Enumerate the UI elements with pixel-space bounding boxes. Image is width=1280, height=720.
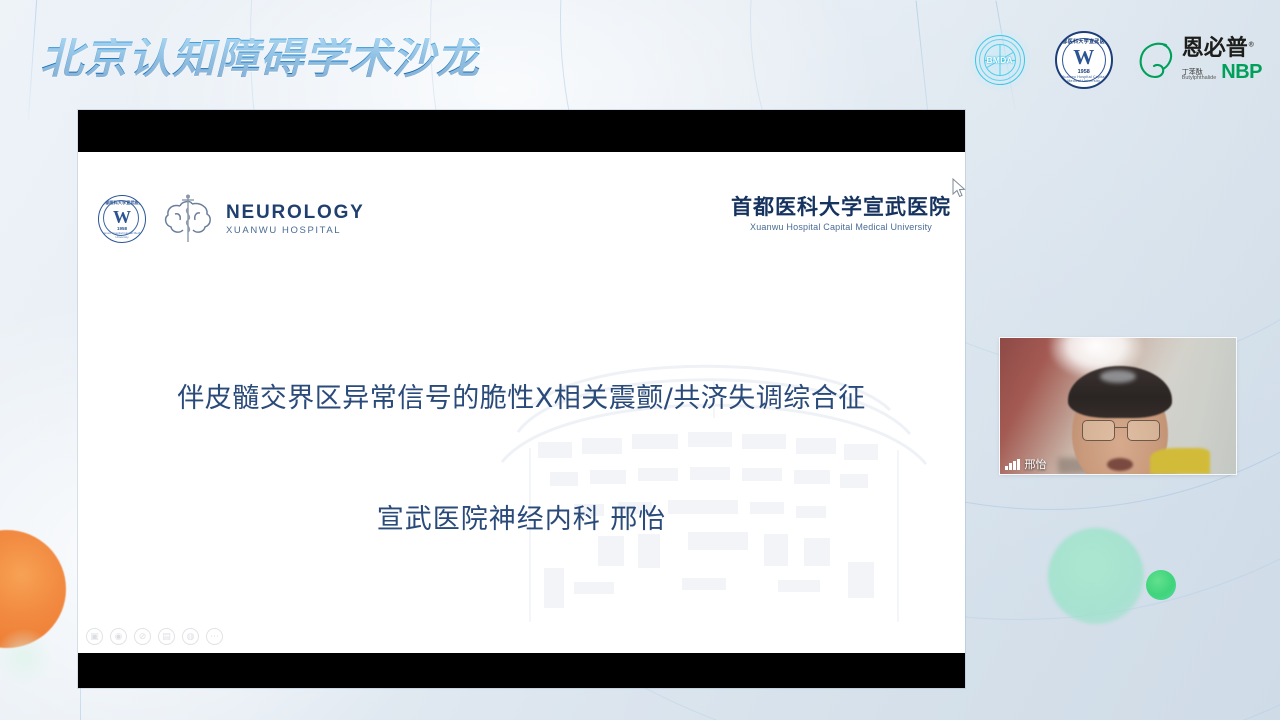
slide-content[interactable]: 首都医科大学宣武医院 W 1958 Xuanwu Hospital Capita… [78, 152, 965, 653]
decorative-green-circle-small [1146, 570, 1176, 600]
nbp-chinese-name: 恩必普® [1182, 38, 1262, 60]
decorative-orange-circle [0, 530, 66, 648]
slide-main-title: 伴皮髓交界区异常信号的脆性X相关震颤/共济失调综合征 [78, 376, 965, 415]
participant-name: 邢怡 [1025, 459, 1047, 470]
seal-arc-top-text: 首都医科大学宣武医院 [1057, 38, 1111, 45]
hospital-name-en: XUANWU HOSPITAL [226, 226, 365, 236]
hospital-name-cn: 首都医科大学宣武医院 [731, 196, 951, 219]
participant-video-thumbnail[interactable]: 邢怡 [1000, 338, 1236, 474]
video-mouth [1107, 458, 1133, 471]
shared-slide-viewport[interactable]: 首都医科大学宣武医院 W 1958 Xuanwu Hospital Capita… [78, 110, 965, 688]
registered-mark: ® [1248, 41, 1255, 49]
brain-caduceus-icon [162, 194, 214, 244]
slide-university-seal: 首都医科大学宣武医院 W 1958 Xuanwu Hospital Capita… [98, 195, 146, 243]
seal-arc-bottom-text: Xuanwu Hospital Capital Medical Universi… [1057, 75, 1111, 83]
capital-medical-university-seal: 首都医科大学宣武医院 W 1958 Xuanwu Hospital Capita… [1055, 31, 1113, 89]
department-name: NEUROLOGY [226, 203, 365, 222]
laser-pointer-icon[interactable]: ◉ [110, 628, 127, 645]
neurology-wordmark: NEUROLOGY XUANWU HOSPITAL [226, 203, 365, 236]
slide-presenter-line: 宣武医院神经内科 邢怡 [78, 497, 965, 536]
nbp-english-name: NBP [1221, 62, 1262, 82]
annotate-icon[interactable]: ⊘ [134, 628, 151, 645]
nbp-generic-name: 丁苯酞 Butylphthalide [1182, 69, 1217, 82]
participant-label: 邢怡 [1005, 459, 1047, 470]
decorative-green-circle-large [1048, 528, 1144, 624]
nbp-wordmark: 恩必普® 丁苯酞 Butylphthalide NBP [1182, 38, 1262, 82]
event-title: 北京认知障碍学术沙龙 [40, 38, 480, 81]
more-options-icon[interactable]: ⋯ [206, 628, 223, 645]
slide-seal-arc-bottom: Xuanwu Hospital Capital Medical Universi… [99, 231, 145, 239]
slide-seal-arc-top: 首都医科大学宣武医院 [99, 200, 145, 206]
seal-monogram: W [1073, 47, 1094, 68]
hospital-name-en-full: Xuanwu Hospital Capital Medical Universi… [731, 222, 951, 232]
glasses-left-lens [1082, 420, 1115, 441]
slide-header-left-lockup: 首都医科大学宣武医院 W 1958 Xuanwu Hospital Capita… [98, 194, 365, 244]
nbp-generic-en: Butylphthalide [1182, 76, 1217, 82]
presenter-toolbar[interactable]: ▣ ◉ ⊘ ▤ ◍ ⋯ [86, 628, 223, 645]
video-glasses [1082, 420, 1160, 442]
slide-header-right-lockup: 首都医科大学宣武医院 Xuanwu Hospital Capital Medic… [731, 196, 951, 232]
slide-menu-icon[interactable]: ▤ [158, 628, 175, 645]
nbp-logo: 恩必普® 丁苯酞 Butylphthalide NBP [1137, 38, 1262, 82]
background-line-1 [28, 0, 37, 120]
decorative-pale-circle [0, 628, 54, 688]
sponsor-logo-strip: BMDA 首都医科大学宣武医院 W 1958 Xuanwu Hospital C… [969, 28, 1262, 92]
zoom-icon[interactable]: ◍ [182, 628, 199, 645]
glasses-right-lens [1127, 420, 1160, 441]
nbp-subtitle-row: 丁苯酞 Butylphthalide NBP [1182, 62, 1262, 82]
neurology-department-lockup: NEUROLOGY XUANWU HOSPITAL [162, 194, 365, 244]
video-hair-highlight [1100, 370, 1136, 383]
signal-bars-icon [1005, 459, 1020, 470]
pen-tool-icon[interactable]: ▣ [86, 628, 103, 645]
video-collar [1150, 448, 1210, 474]
nbp-leaf-icon [1137, 39, 1177, 81]
presentation-screen: 北京认知障碍学术沙龙 BMDA 首都医科大学宣武医院 W 1958 Xuanwu… [0, 0, 1280, 720]
hospital-building-watermark [478, 322, 948, 652]
bmda-logo: BMDA [969, 29, 1031, 91]
glasses-bridge [1115, 427, 1127, 428]
bmda-logo-text: BMDA [969, 55, 1031, 65]
